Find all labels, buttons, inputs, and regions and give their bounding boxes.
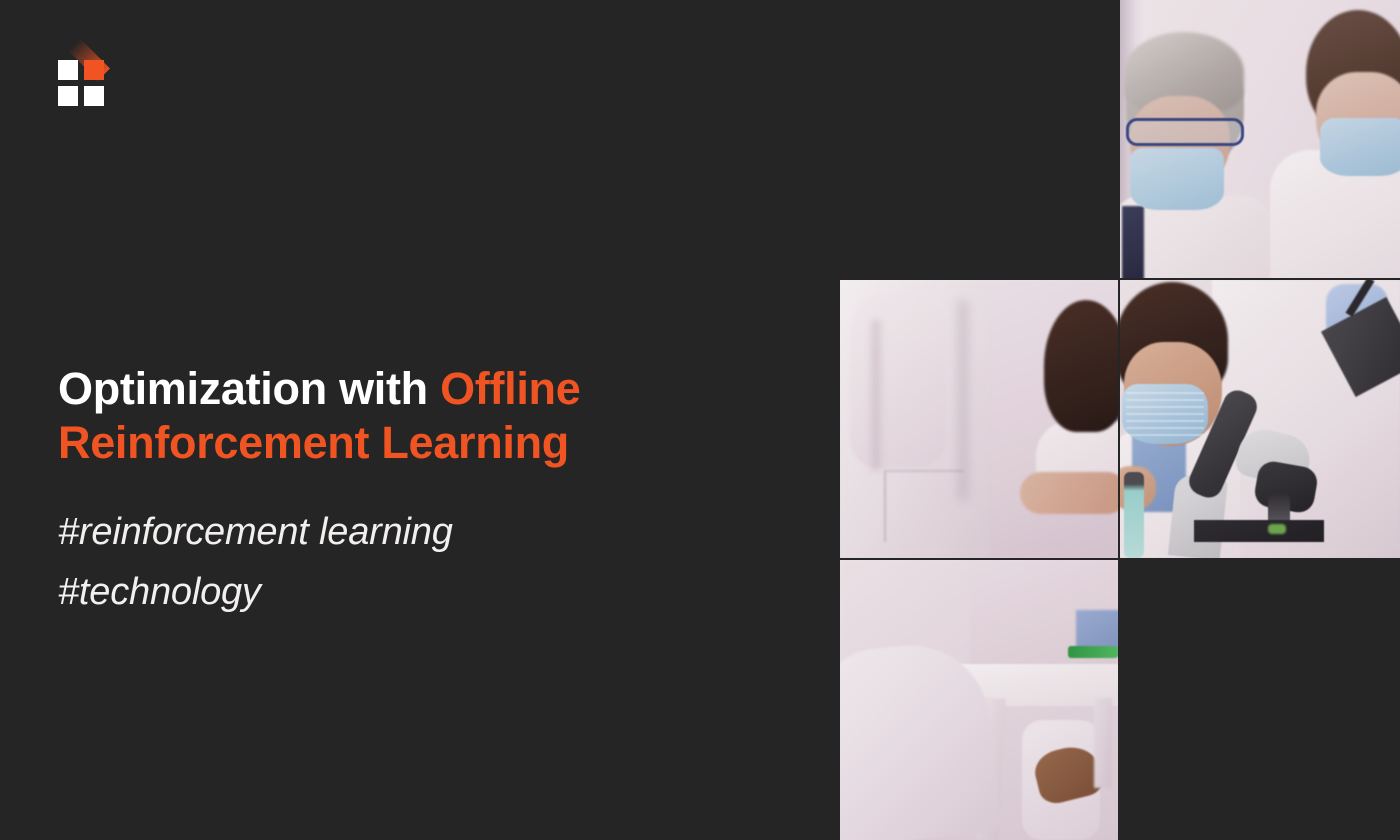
photo-left-face-mask (1130, 148, 1224, 210)
brand-logo[interactable] (58, 60, 104, 106)
photo-microscope-scientist (1120, 280, 1400, 558)
photo-safety-glasses (1126, 118, 1244, 146)
page-title: Optimization with Offline Reinforcement … (58, 362, 758, 470)
logo-square-bottom-right (84, 86, 104, 106)
collage-tile-bottom-left (840, 560, 1118, 840)
photo-coat-sleeve (850, 290, 946, 468)
collage-tile-middle-right (1120, 280, 1400, 558)
headline-lead: Optimization with (58, 363, 440, 414)
photo-right-face-mask (1320, 118, 1400, 176)
photo-coat-pocket (884, 470, 964, 542)
hashtag-reinforcement-learning[interactable]: #reinforcement learning (58, 502, 758, 562)
hashtag-technology[interactable]: #technology (58, 562, 758, 622)
collage-tile-middle-left (840, 280, 1118, 558)
photo-microscope-stage (1194, 520, 1324, 542)
photo-table-leg (1094, 698, 1112, 788)
photo-specimen (1268, 524, 1286, 534)
photo-test-tube (1124, 472, 1144, 558)
logo-square-top-right (84, 60, 104, 80)
photo-reaching-arm (1020, 472, 1118, 514)
collage-tile-top-right (1120, 0, 1400, 278)
photo-lab-coats (840, 280, 1118, 558)
photo-fabric-fold (872, 320, 880, 470)
presentation-slide: Optimization with Offline Reinforcement … (0, 0, 1400, 840)
logo-square-top-left (58, 60, 78, 80)
hashtag-list: #reinforcement learning #technology (58, 470, 758, 622)
photo-two-scientists (1120, 0, 1400, 278)
photo-green-object (1068, 646, 1118, 658)
photo-lab-interior (840, 560, 1118, 840)
photo-mask-pleats (1126, 392, 1204, 436)
photo-left-tie (1122, 206, 1144, 278)
logo-square-bottom-left (58, 86, 78, 106)
slide-text-block: Optimization with Offline Reinforcement … (58, 362, 758, 622)
photo-collage (840, 0, 1400, 840)
photo-curly-hair (1044, 300, 1118, 432)
